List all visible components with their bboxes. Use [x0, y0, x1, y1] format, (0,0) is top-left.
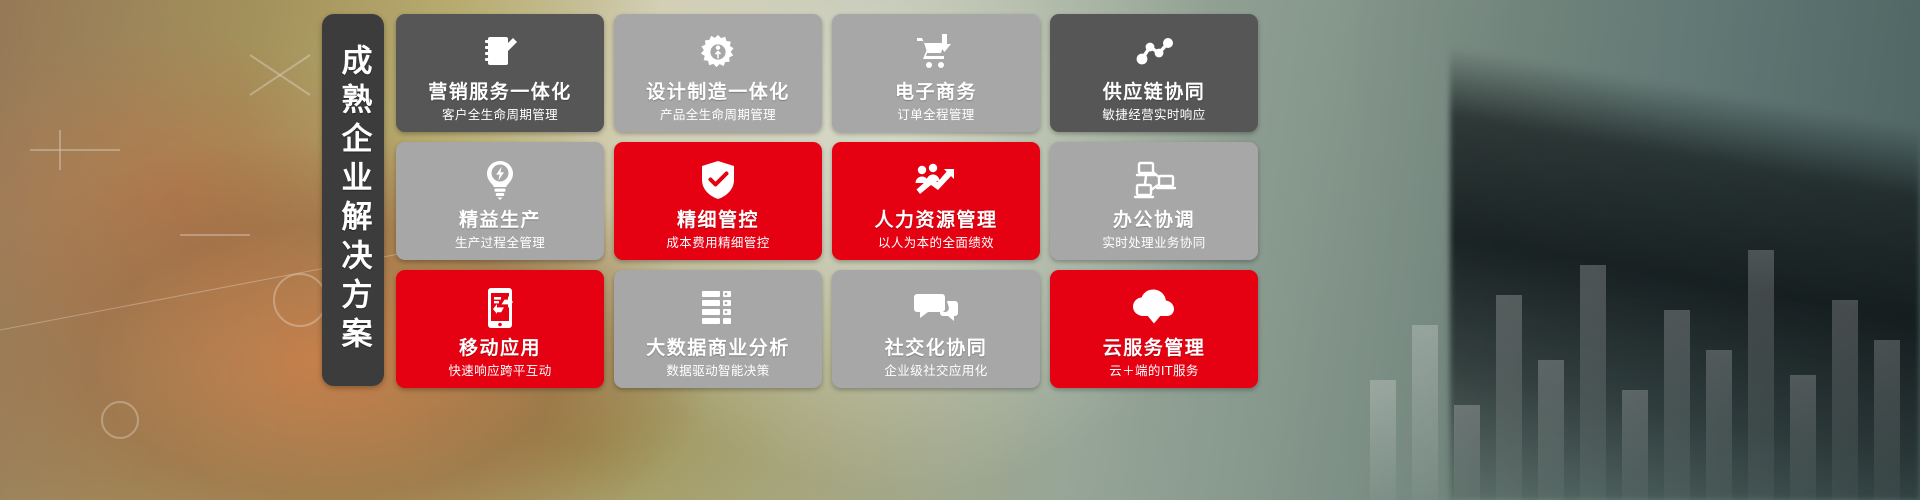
- shield-check-icon: [701, 157, 735, 203]
- card-subtitle: 云＋端的IT服务: [1109, 364, 1199, 378]
- card-title: 大数据商业分析: [646, 338, 790, 359]
- card-title: 办公协调: [1113, 210, 1195, 231]
- card-title: 精益生产: [459, 210, 541, 231]
- card-subtitle: 敏捷经营实时响应: [1102, 108, 1205, 122]
- card-subtitle: 实时处理业务协同: [1102, 236, 1205, 250]
- solution-card-ecommerce[interactable]: 电子商务 订单全程管理: [832, 14, 1040, 132]
- card-title: 移动应用: [459, 338, 541, 359]
- card-title: 云服务管理: [1103, 338, 1206, 359]
- card-subtitle: 客户全生命周期管理: [442, 108, 558, 122]
- notebook-pen-icon: [480, 29, 520, 75]
- side-title-panel: 成熟企业解决方案: [322, 14, 384, 386]
- card-title: 社交化协同: [885, 338, 988, 359]
- card-subtitle: 成本费用精细管控: [666, 236, 769, 250]
- network-share-icon: [1133, 29, 1175, 75]
- networked-computers-icon: [1132, 157, 1176, 203]
- cloud-download-icon: [1132, 285, 1176, 331]
- solution-card-marketing-service[interactable]: 营销服务一体化 客户全生命周期管理: [396, 14, 604, 132]
- solution-card-design-manufacture[interactable]: 设计制造一体化 产品全生命周期管理: [614, 14, 822, 132]
- card-title: 供应链协同: [1103, 82, 1206, 103]
- side-title-text: 成熟企业解决方案: [338, 44, 369, 356]
- solution-card-supply-chain[interactable]: 供应链协同 敏捷经营实时响应: [1050, 14, 1258, 132]
- solution-card-grid: 营销服务一体化 客户全生命周期管理 设计制造一体化 产品全生命周期管理: [396, 14, 1258, 388]
- solution-card-big-data-analysis[interactable]: 大数据商业分析 数据驱动智能决策: [614, 270, 822, 388]
- card-subtitle: 快速响应跨平互动: [448, 364, 551, 378]
- shopping-cart-download-icon: [915, 29, 957, 75]
- card-subtitle: 企业级社交应用化: [884, 364, 987, 378]
- solution-card-cloud-service[interactable]: 云服务管理 云＋端的IT服务: [1050, 270, 1258, 388]
- card-title: 人力资源管理: [874, 210, 997, 231]
- chat-bubbles-icon: [914, 285, 958, 331]
- card-subtitle: 产品全生命周期管理: [660, 108, 776, 122]
- banner-stage: 成熟企业解决方案 营销服务一体化 客户全生命周期管理: [0, 0, 1920, 500]
- card-title: 营销服务一体化: [428, 82, 572, 103]
- solution-card-fine-control[interactable]: 精细管控 成本费用精细管控: [614, 142, 822, 260]
- card-subtitle: 数据驱动智能决策: [666, 364, 769, 378]
- card-subtitle: 订单全程管理: [897, 108, 974, 122]
- card-title: 精细管控: [677, 210, 759, 231]
- solution-card-lean-production[interactable]: 精益生产 生产过程全管理: [396, 142, 604, 260]
- lightbulb-bolt-icon: [483, 157, 517, 203]
- solution-card-social-collaboration[interactable]: 社交化协同 企业级社交应用化: [832, 270, 1040, 388]
- solution-card-hr-management[interactable]: 人力资源管理 以人为本的全面绩效: [832, 142, 1040, 260]
- card-title: 电子商务: [895, 82, 977, 103]
- card-subtitle: 生产过程全管理: [455, 236, 545, 250]
- solution-card-mobile-app[interactable]: 移动应用 快速响应跨平互动: [396, 270, 604, 388]
- mobile-phone-sync-icon: [484, 285, 516, 331]
- solutions-content: 成熟企业解决方案 营销服务一体化 客户全生命周期管理: [322, 14, 1258, 388]
- server-rack-icon: [699, 285, 737, 331]
- card-subtitle: 以人为本的全面绩效: [878, 236, 994, 250]
- solution-card-office-coordination[interactable]: 办公协调 实时处理业务协同: [1050, 142, 1258, 260]
- card-title: 设计制造一体化: [646, 82, 790, 103]
- people-chart-icon: [914, 157, 958, 203]
- gear-person-icon: [699, 29, 737, 75]
